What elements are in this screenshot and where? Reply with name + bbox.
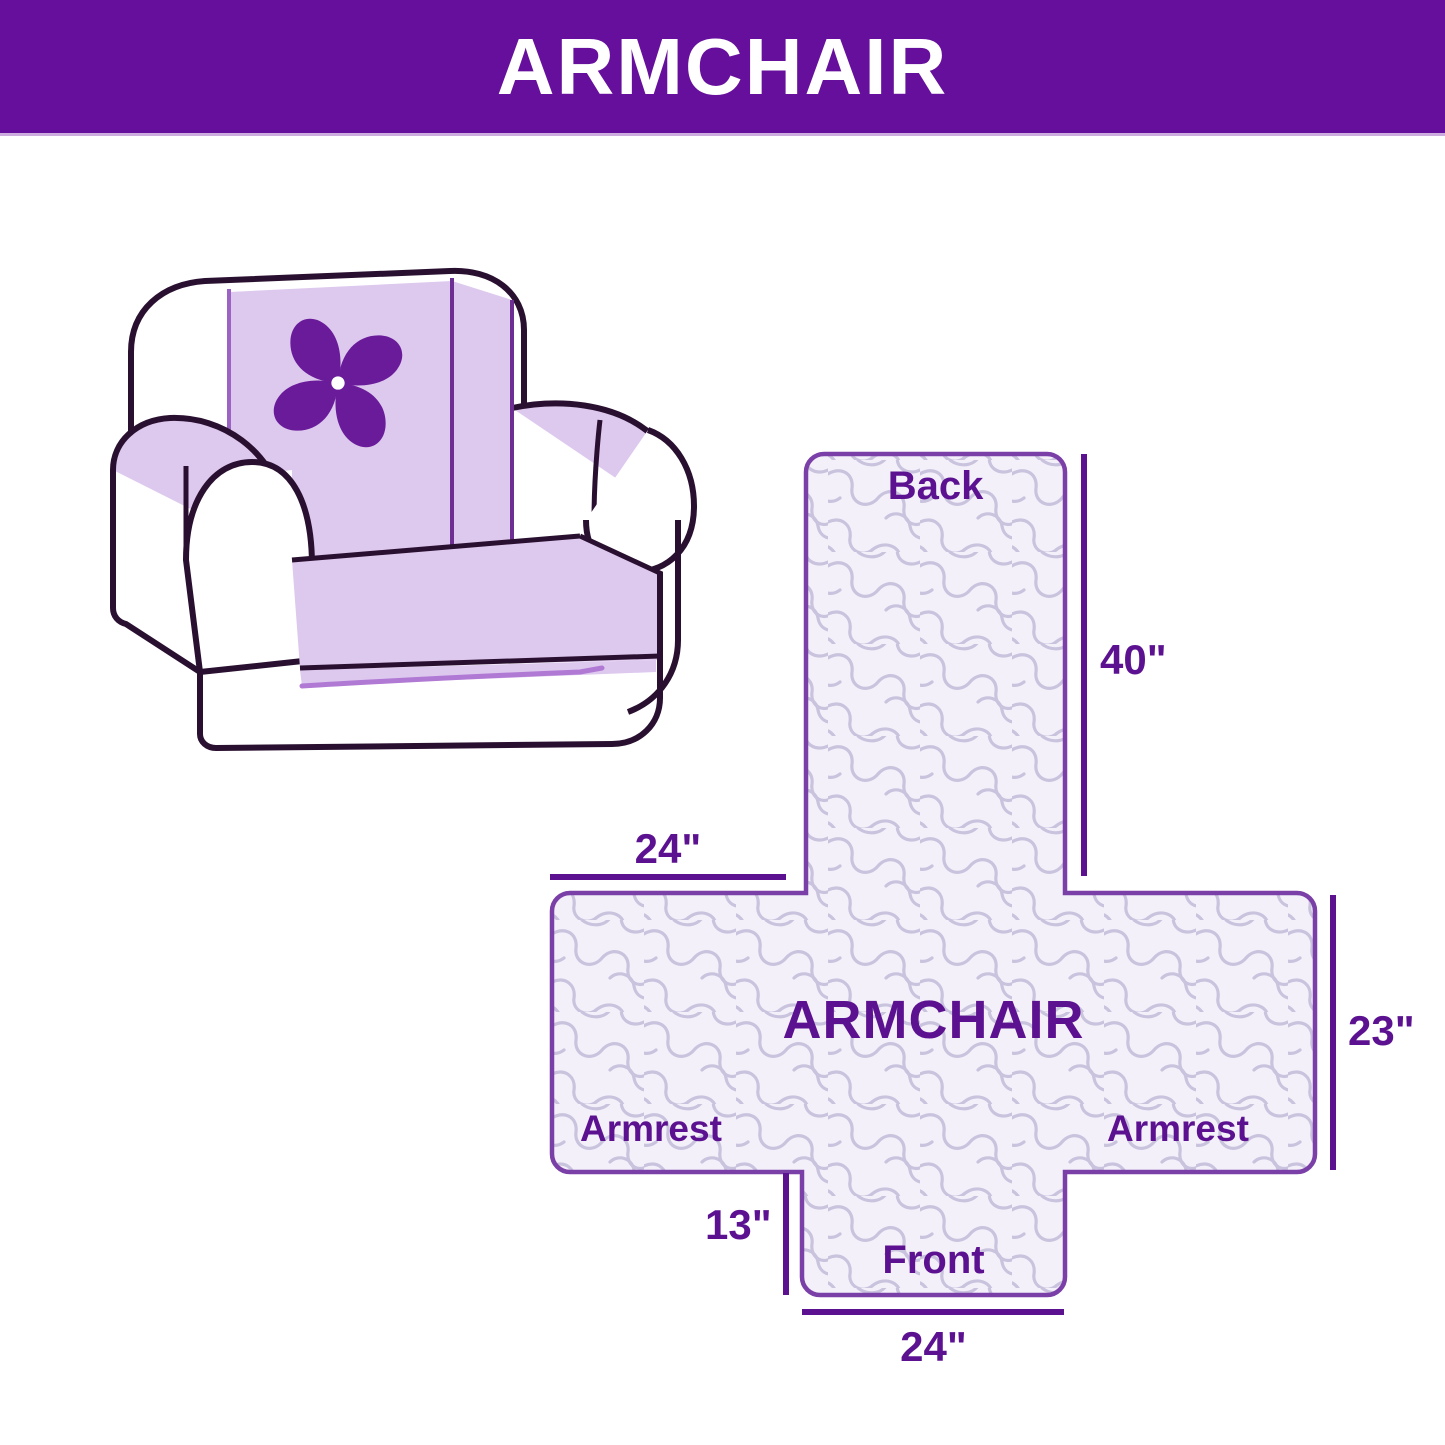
product-dimension-diagram: ARMCHAIR bbox=[0, 0, 1445, 1445]
panel-label-armrest-right: Armrest bbox=[1107, 1110, 1249, 1147]
dimension-label-24in-top: 24" bbox=[550, 828, 786, 870]
panel-label-back: Back bbox=[806, 466, 1065, 506]
dimension-label-40in: 40" bbox=[1100, 639, 1167, 681]
panel-label-armchair: ARMCHAIR bbox=[552, 993, 1315, 1047]
dimension-label-24in-bottom: 24" bbox=[802, 1326, 1065, 1368]
dimension-label-13in: 13" bbox=[705, 1204, 772, 1246]
panel-label-armrest-left: Armrest bbox=[580, 1110, 722, 1147]
dimension-label-23in: 23" bbox=[1348, 1010, 1415, 1052]
panel-label-front: Front bbox=[802, 1240, 1065, 1280]
